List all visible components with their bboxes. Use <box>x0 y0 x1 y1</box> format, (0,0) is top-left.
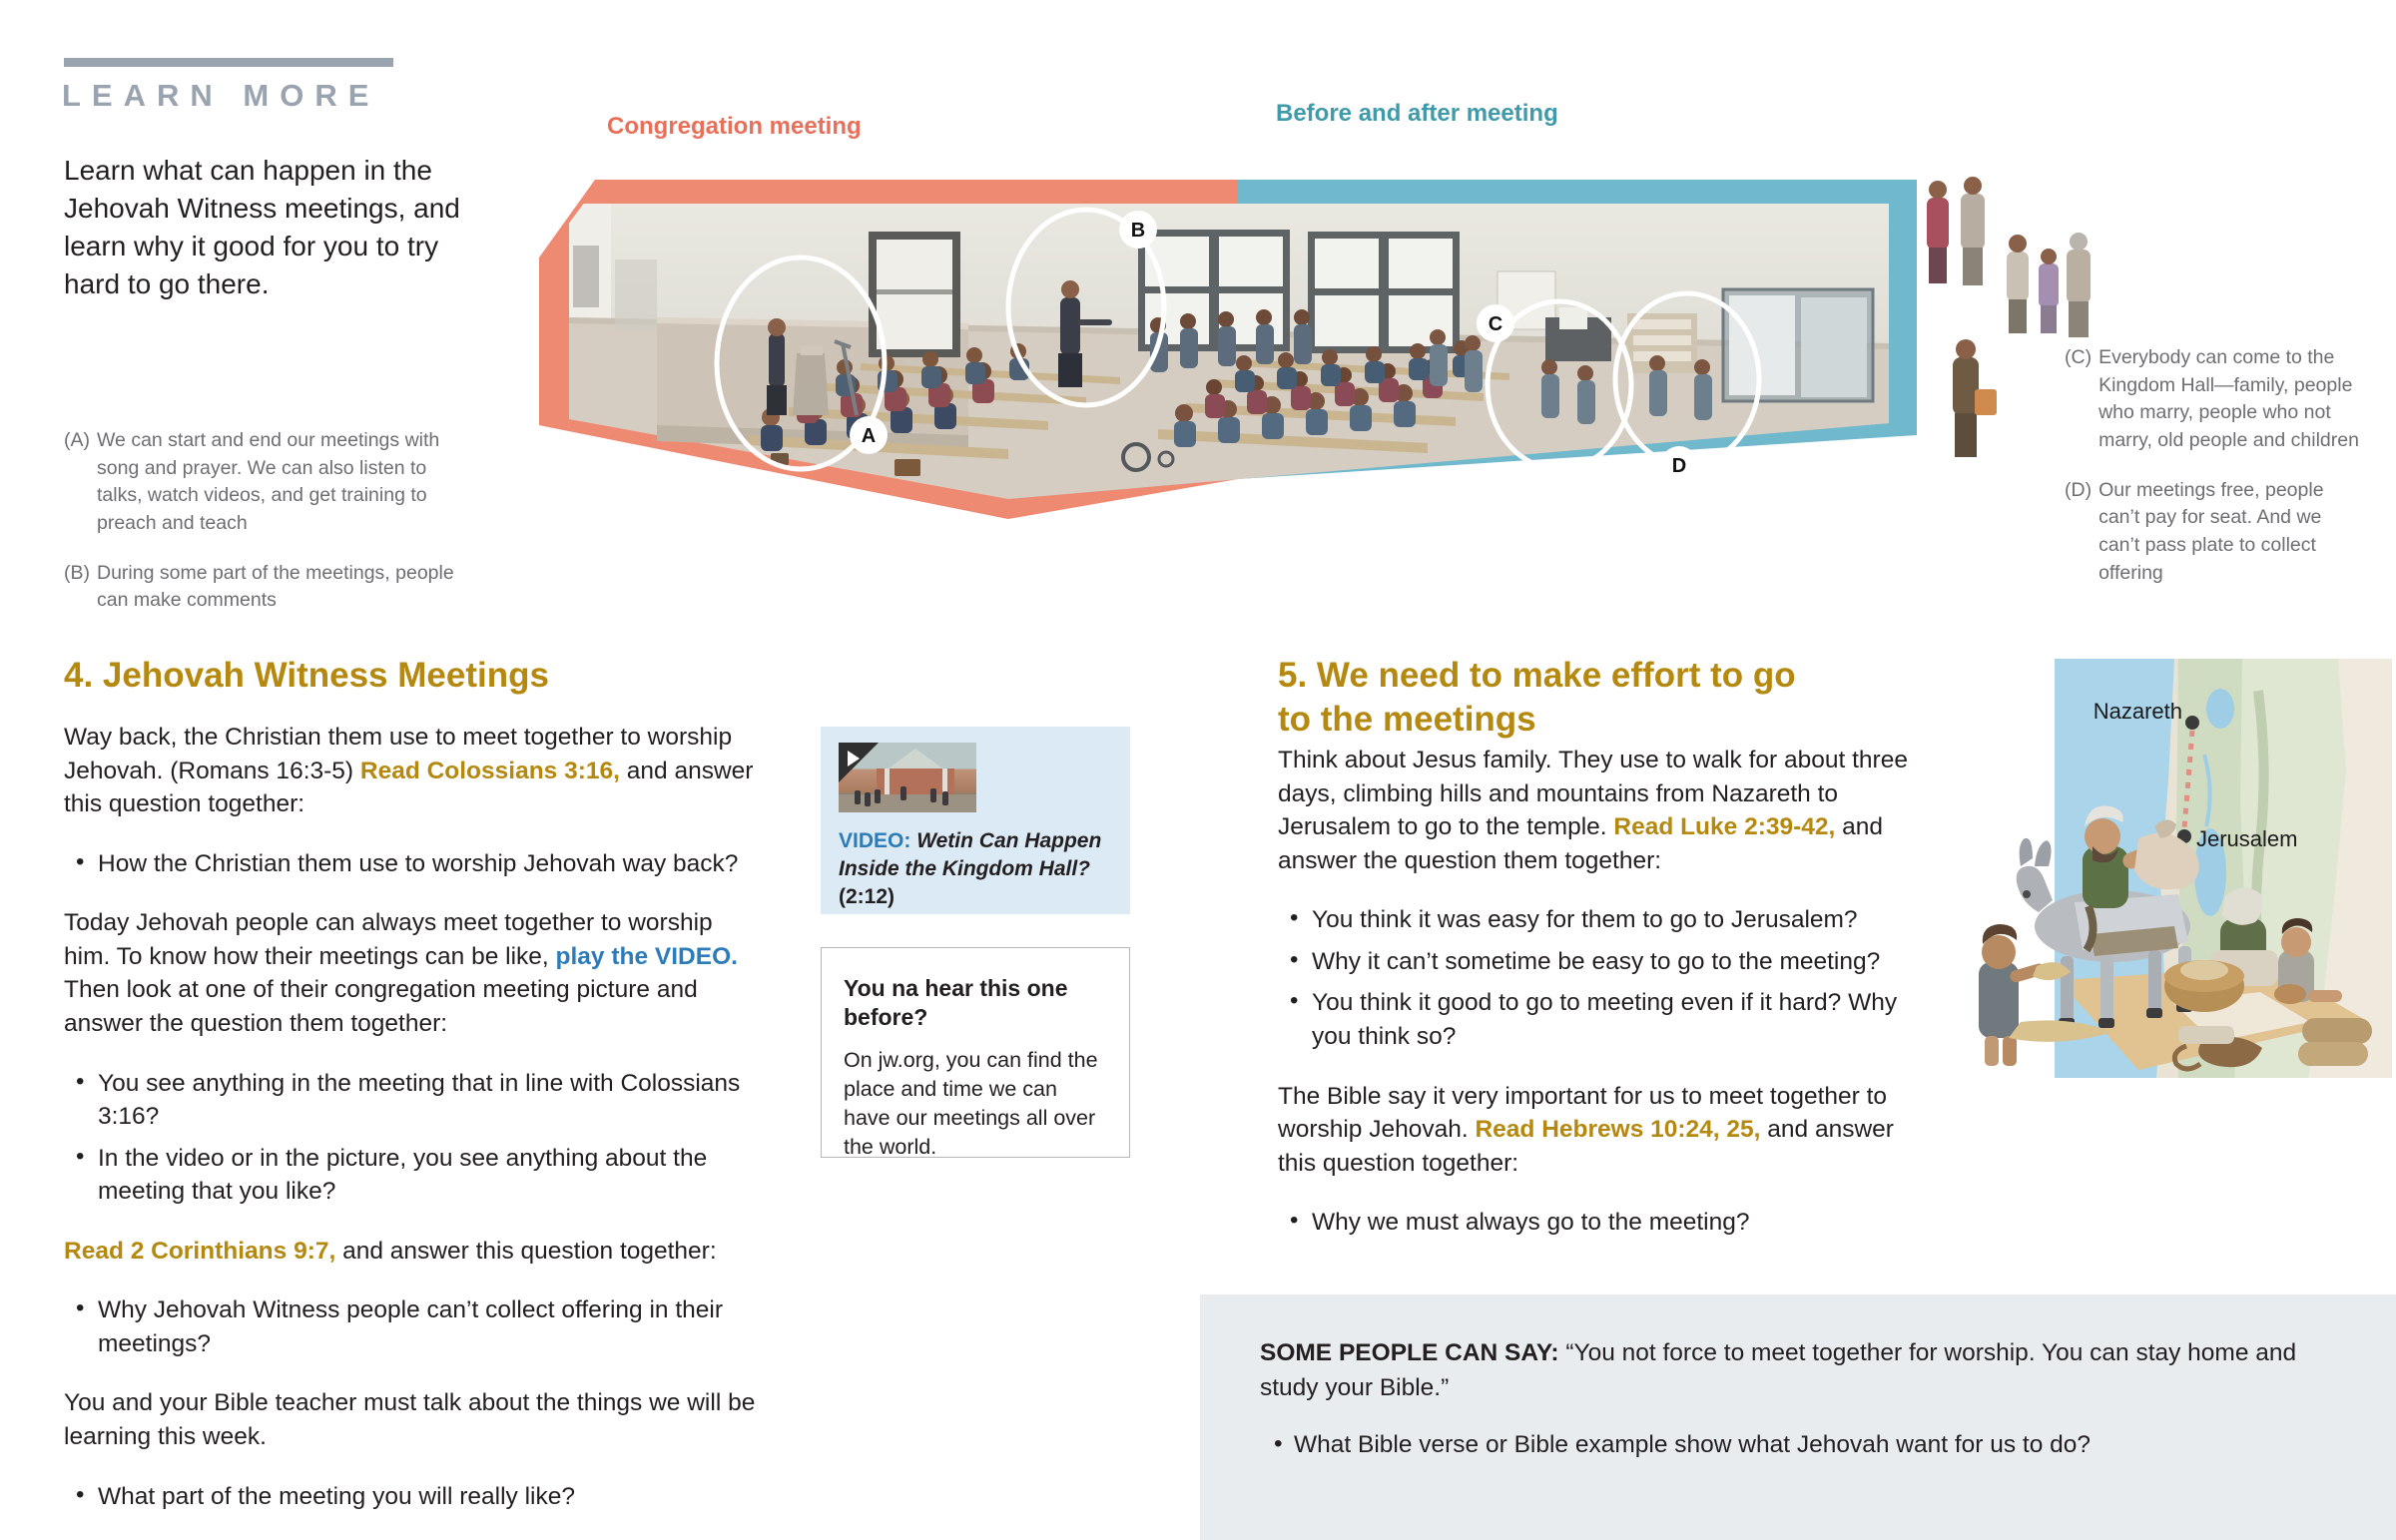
question-item: What Bible verse or Bible example show w… <box>1260 1428 2336 1462</box>
caption-a-text: We can start and end our meetings with s… <box>97 427 463 538</box>
thumbnail-figure <box>930 788 936 802</box>
some-people-can-say-lead: SOME PEOPLE CAN SAY: “You not force to m… <box>1260 1336 2336 1406</box>
play-icon[interactable] <box>839 743 879 782</box>
question-item: Why it can’t sometime be easy to go to t… <box>1278 945 1937 979</box>
scripture-luke-239-42[interactable]: Read Luke 2:39-42, <box>1613 813 1835 840</box>
s4-p3-b: and answer this question together: <box>335 1238 716 1265</box>
kingdom-hall-illustration: A B C D <box>539 168 1917 599</box>
section-4-paragraph-3: Read 2 Corinthians 9:7, and answer this … <box>64 1235 763 1269</box>
label-before-after-meeting: Before and after meeting <box>1276 100 1558 128</box>
section-4-questions-2: You see anything in the meeting that in … <box>64 1067 763 1209</box>
caption-d: (D) Our meetings free, people can’t pay … <box>2065 477 2364 588</box>
question-item: What part of the meeting you will really… <box>64 1480 763 1514</box>
section-4-paragraph-2: Today Jehovah people can always meet tog… <box>64 906 763 1040</box>
caption-c: (C) Everybody can come to the Kingdom Ha… <box>2065 344 2364 455</box>
thumbnail-figure <box>900 786 906 800</box>
section-4-questions-1: How the Christian them use to worship Je… <box>64 847 763 881</box>
caption-c-text: Everybody can come to the Kingdom Hall—f… <box>2098 344 2364 455</box>
some-people-can-say-label: SOME PEOPLE CAN SAY: <box>1260 1339 1559 1366</box>
some-people-can-say-panel: SOME PEOPLE CAN SAY: “You not force to m… <box>1200 1294 2396 1540</box>
svg-text:D: D <box>1672 455 1686 477</box>
question-item: Why Jehovah Witness people can’t collect… <box>64 1293 763 1360</box>
video-duration: (2:12) <box>839 885 895 908</box>
video-thumbnail[interactable] <box>839 743 976 812</box>
porch-column-left <box>885 769 890 795</box>
illustration-captions-left: (A) We can start and end our meetings wi… <box>64 427 463 615</box>
video-callout[interactable]: VIDEO: Wetin Can Happen Inside the Kingd… <box>821 727 1130 914</box>
question-item: You see anything in the meeting that in … <box>64 1067 763 1134</box>
caption-d-tag: (D) <box>2065 477 2092 588</box>
svg-text:C: C <box>1489 313 1502 335</box>
nazareth-jerusalem-map-illustration: Nazareth Jerusalem <box>1943 651 2392 1250</box>
caption-d-text: Our meetings free, people can’t pay for … <box>2098 477 2364 588</box>
map-label-jerusalem: Jerusalem <box>2196 826 2297 851</box>
learn-more-intro: Learn what can happen in the Jehovah Wit… <box>64 152 483 303</box>
did-you-know-text: On jw.org, you can find the place and ti… <box>844 1046 1107 1163</box>
section-5-paragraph-2: The Bible say it very important for us t… <box>1278 1080 1937 1181</box>
section-5-body: Think about Jesus family. They use to wa… <box>1278 744 1937 1266</box>
section-4-questions-4: What part of the meeting you will really… <box>64 1480 763 1514</box>
question-item: Why we must always go to the meeting? <box>1278 1206 1937 1240</box>
section-4-paragraph-1: Way back, the Christian them use to meet… <box>64 721 763 821</box>
play-video-link[interactable]: play the VIDEO. <box>556 943 738 970</box>
page-root: LEARN MORE Learn what can happen in the … <box>0 0 2396 1540</box>
caption-a: (A) We can start and end our meetings wi… <box>64 427 463 538</box>
question-item: You think it good to go to meeting even … <box>1278 986 1937 1053</box>
did-you-know-box: You na hear this one before? On jw.org, … <box>821 947 1130 1158</box>
section-5-questions-2: Why we must always go to the meeting? <box>1278 1206 1937 1240</box>
thumbnail-figure <box>942 791 948 805</box>
some-people-can-say-questions: What Bible verse or Bible example show w… <box>1260 1428 2336 1462</box>
section-4-heading: 4. Jehovah Witness Meetings <box>64 654 683 698</box>
scripture-hebrews-1024-25[interactable]: Read Hebrews 10:24, 25, <box>1475 1116 1760 1143</box>
section-5-questions-1: You think it was easy for them to go to … <box>1278 903 1937 1053</box>
learn-more-rule <box>64 58 393 67</box>
caption-a-tag: (A) <box>64 427 90 538</box>
thumbnail-figure <box>875 789 881 803</box>
section-5-heading: 5. We need to make effort to go to the m… <box>1278 654 1837 742</box>
frame-before-after <box>1238 180 1917 204</box>
section-4-paragraph-4: You and your Bible teacher must talk abo… <box>64 1386 763 1453</box>
video-caption: VIDEO: Wetin Can Happen Inside the Kingd… <box>839 827 1112 911</box>
caption-c-tag: (C) <box>2065 344 2092 455</box>
s4-p2-b: Then look at one of their congregation m… <box>64 976 698 1037</box>
caption-b-tag: (B) <box>64 560 90 615</box>
learn-more-title: LEARN MORE <box>62 78 379 114</box>
question-item: How the Christian them use to worship Je… <box>64 847 763 881</box>
label-congregation-meeting: Congregation meeting <box>607 113 862 141</box>
svg-text:A: A <box>862 425 876 447</box>
section-4-questions-3: Why Jehovah Witness people can’t collect… <box>64 1293 763 1360</box>
question-item: In the video or in the picture, you see … <box>64 1142 763 1209</box>
caption-b-text: During some part of the meetings, people… <box>97 560 463 615</box>
map-label-nazareth: Nazareth <box>2094 699 2182 724</box>
section-4-body: Way back, the Christian them use to meet… <box>64 721 763 1539</box>
thumbnail-figure <box>865 792 871 806</box>
caption-b: (B) During some part of the meetings, pe… <box>64 560 463 615</box>
video-label: VIDEO: <box>839 829 910 852</box>
thumbnail-figure <box>855 790 861 804</box>
did-you-know-title: You na hear this one before? <box>844 974 1107 1032</box>
scripture-2-corinthians-97[interactable]: Read 2 Corinthians 9:7, <box>64 1238 335 1265</box>
section-5-paragraph-1: Think about Jesus family. They use to wa… <box>1278 744 1937 877</box>
map-dot-nazareth <box>2185 716 2199 730</box>
scripture-colossians-316[interactable]: Read Colossians 3:16, <box>360 758 620 784</box>
illustration-captions-right: (C) Everybody can come to the Kingdom Ha… <box>2065 344 2364 588</box>
svg-text:B: B <box>1131 220 1145 242</box>
question-item: You think it was easy for them to go to … <box>1278 903 1937 937</box>
